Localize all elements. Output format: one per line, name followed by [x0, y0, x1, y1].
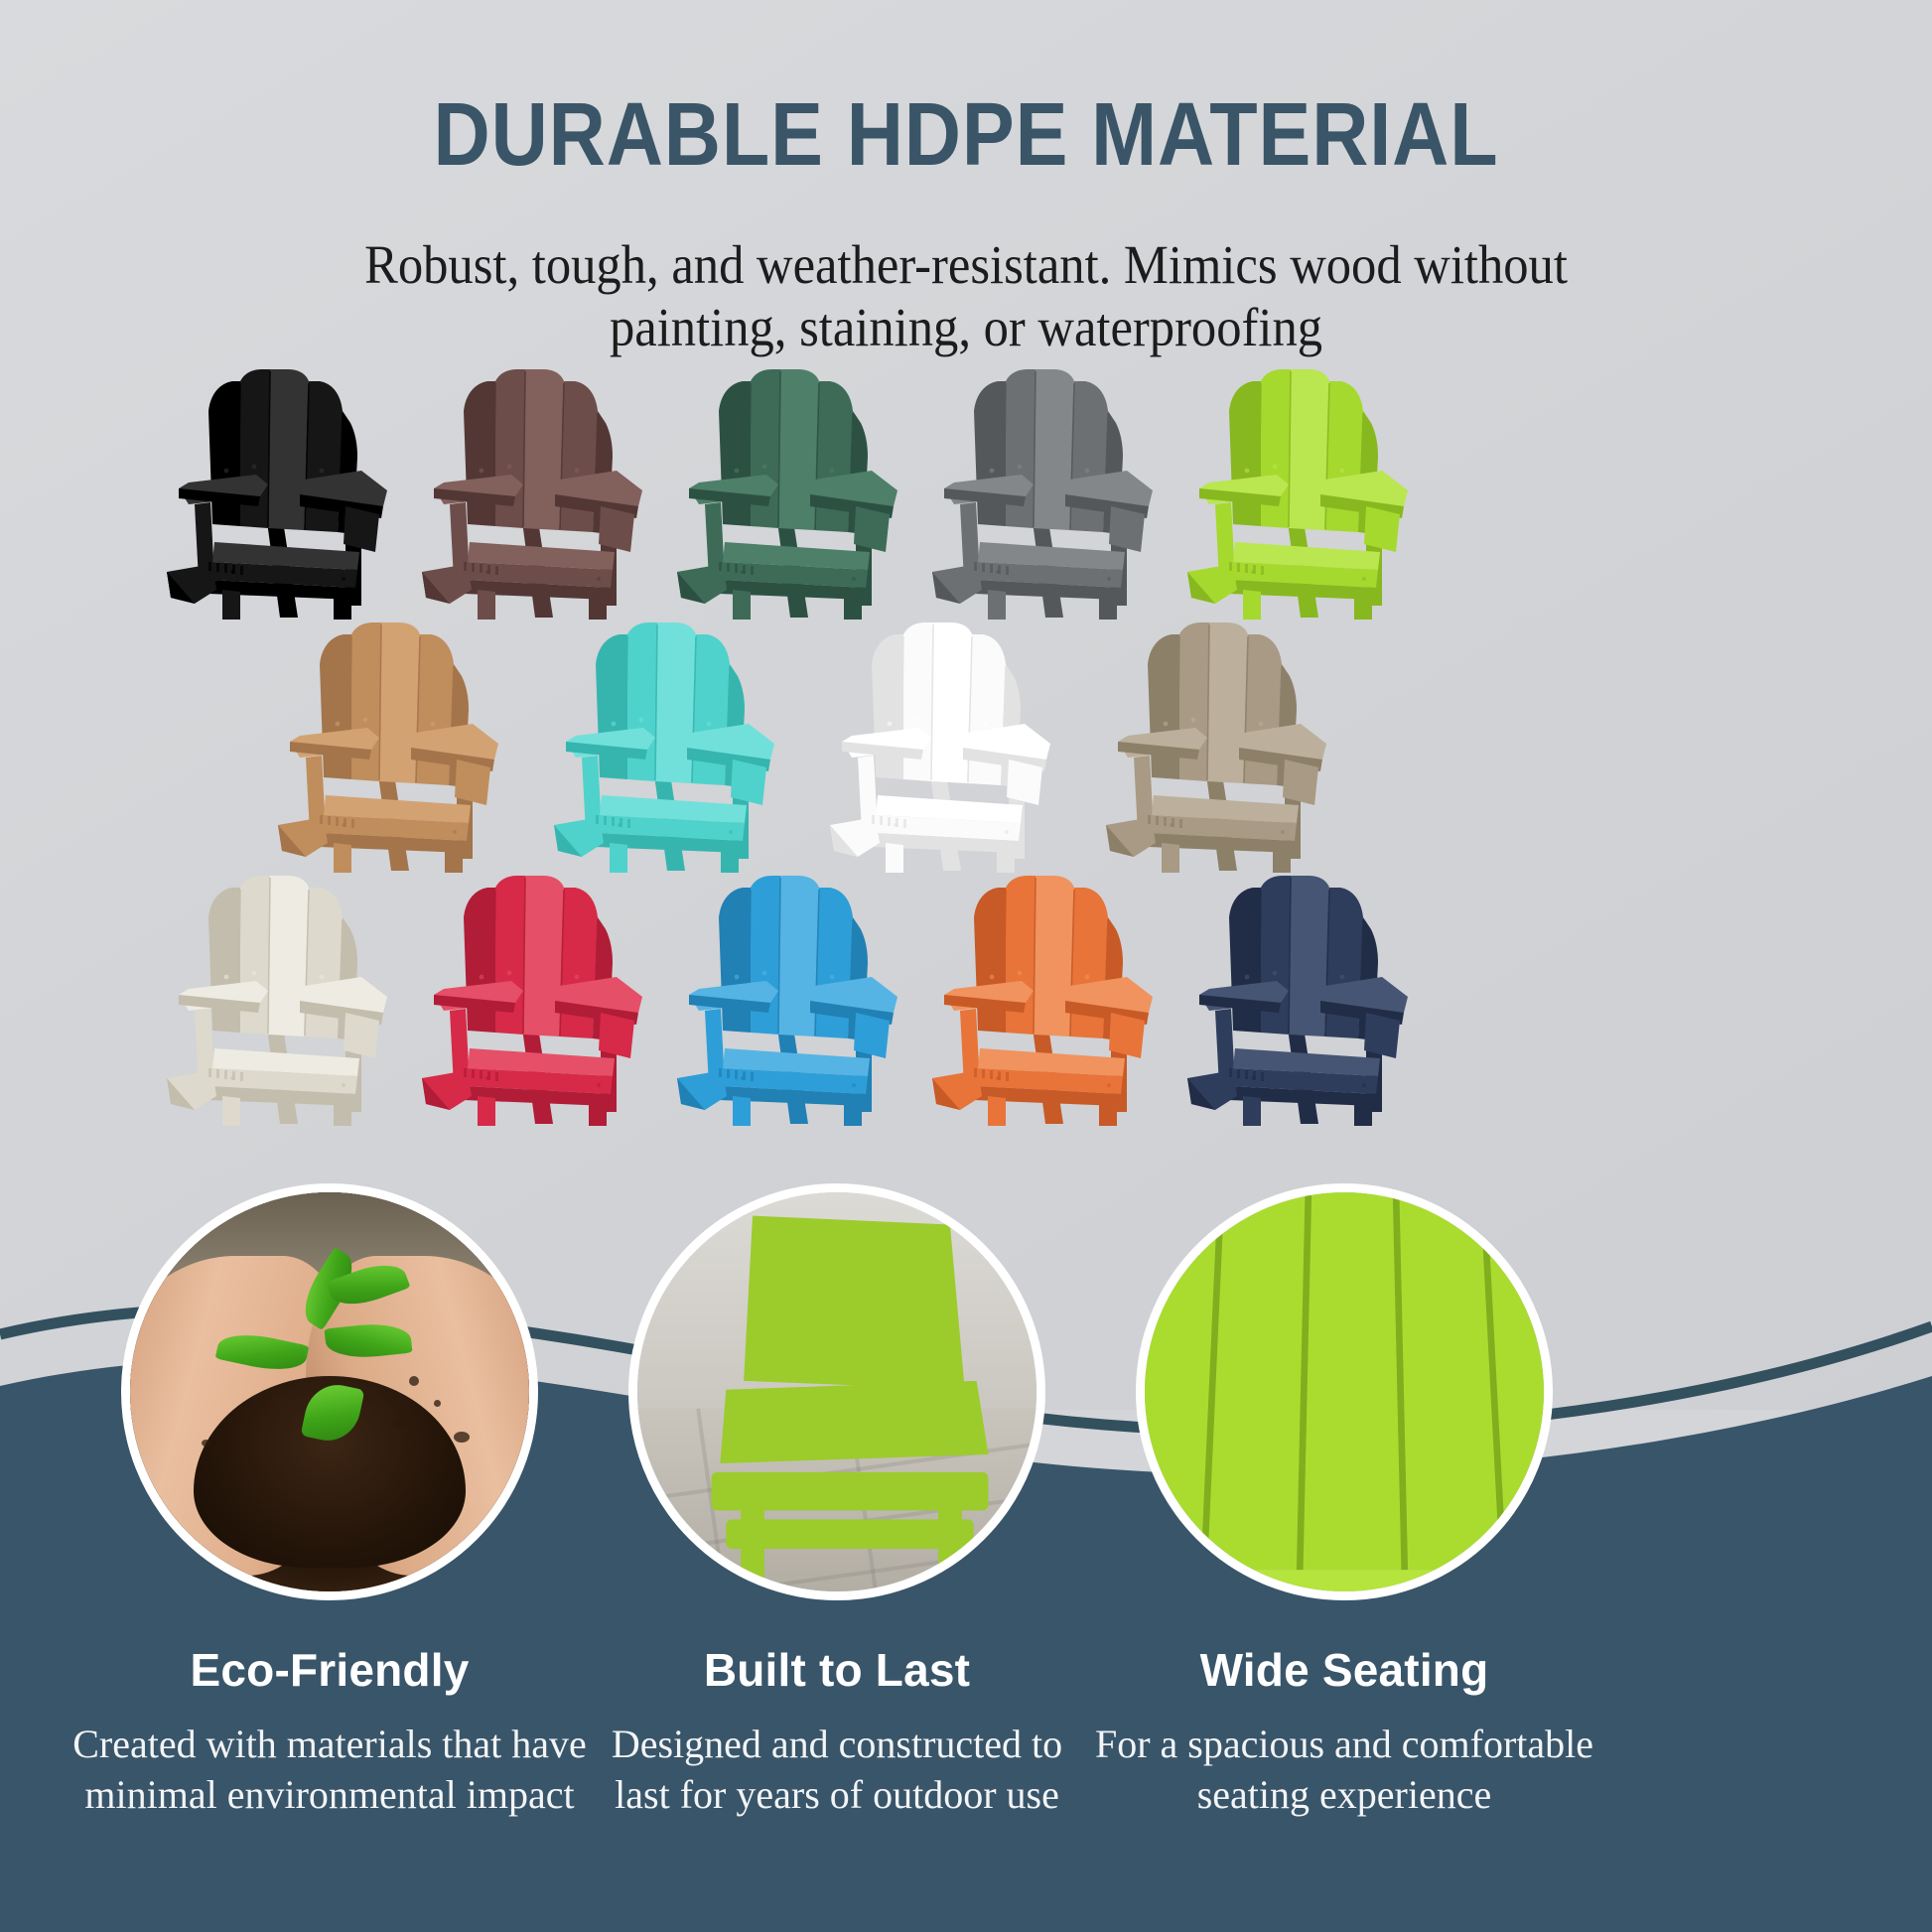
feature-heading-eco-friendly: Eco-Friendly	[32, 1643, 627, 1697]
feature-caption-built-to-last: Built to LastDesigned and constructed to…	[539, 1643, 1135, 1820]
feature-body-line-2: seating experience	[1046, 1769, 1642, 1820]
feature-heading-built-to-last: Built to Last	[539, 1643, 1135, 1697]
feature-caption-eco-friendly: Eco-FriendlyCreated with materials that …	[32, 1643, 627, 1820]
infographic-canvas: DURABLE HDPE MATERIAL Robust, tough, and…	[0, 0, 1932, 1932]
feature-body-wide-seating: For a spacious and comfortableseating ex…	[1046, 1719, 1642, 1820]
feature-body-line-1: Designed and constructed to	[539, 1719, 1135, 1769]
feature-body-line-1: Created with materials that have	[32, 1719, 627, 1769]
feature-body-eco-friendly: Created with materials that haveminimal …	[32, 1719, 627, 1820]
feature-body-line-2: minimal environmental impact	[32, 1769, 627, 1820]
feature-caption-wide-seating: Wide SeatingFor a spacious and comfortab…	[1046, 1643, 1642, 1820]
photo-hands-holding-soil-seedling	[130, 1192, 529, 1591]
feature-photo-built-to-last	[628, 1183, 1045, 1600]
feature-heading-wide-seating: Wide Seating	[1046, 1643, 1642, 1697]
feature-photo-eco-friendly	[121, 1183, 538, 1600]
photo-lime-chair-wide-seat-closeup	[1145, 1192, 1544, 1591]
feature-body-built-to-last: Designed and constructed tolast for year…	[539, 1719, 1135, 1820]
feature-body-line-1: For a spacious and comfortable	[1046, 1719, 1642, 1769]
feature-body-line-2: last for years of outdoor use	[539, 1769, 1135, 1820]
photo-lime-chair-on-patio	[637, 1192, 1036, 1591]
feature-photo-wide-seating	[1136, 1183, 1553, 1600]
